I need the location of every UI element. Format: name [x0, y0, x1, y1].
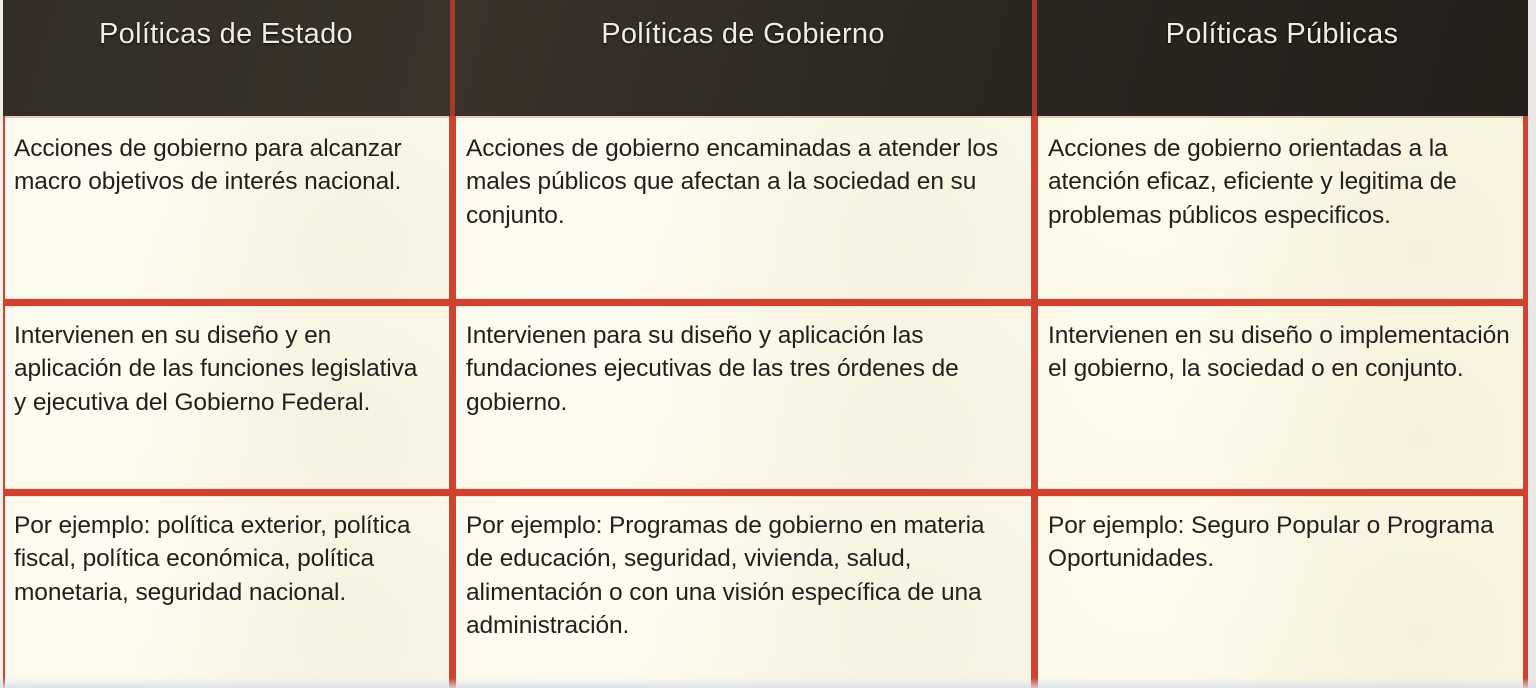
cell-text: Acciones de gobierno encaminadas a atend… — [466, 132, 1018, 232]
table-cell: Acciones de gobierno orientadas a la ate… — [1034, 116, 1530, 303]
cell-text: Intervienen en su diseño o implementació… — [1048, 319, 1514, 386]
table-cell: Intervienen en su diseño y en aplicación… — [0, 303, 452, 493]
table-cell: Por ejemplo: Programas de gobierno en ma… — [452, 493, 1034, 688]
column-header-politicas-de-gobierno: Políticas de Gobierno — [452, 0, 1034, 116]
column-header-label: Políticas de Estado — [99, 18, 353, 51]
column-header-politicas-publicas: Políticas Públicas — [1034, 0, 1530, 116]
table-body: Acciones de gobierno para alcanzar macro… — [0, 116, 1530, 688]
page-margin-left — [0, 0, 3, 688]
table-cell: Intervienen para su diseño y aplicación … — [452, 303, 1034, 493]
column-header-politicas-de-estado: Políticas de Estado — [0, 0, 452, 116]
page-canvas: Políticas de Estado Políticas de Gobiern… — [0, 0, 1536, 688]
table-cell: Por ejemplo: política exterior, política… — [0, 493, 452, 688]
cell-text: Acciones de gobierno para alcanzar macro… — [14, 132, 436, 199]
table-header-row: Políticas de Estado Políticas de Gobiern… — [0, 0, 1530, 116]
cell-text: Acciones de gobierno orientadas a la ate… — [1048, 132, 1514, 232]
column-header-label: Políticas de Gobierno — [601, 18, 885, 51]
cell-text: Intervienen para su diseño y aplicación … — [466, 319, 1018, 419]
policy-comparison-table: Políticas de Estado Políticas de Gobiern… — [0, 0, 1530, 688]
table-cell: Intervienen en su diseño o implementació… — [1034, 303, 1530, 493]
cell-text: Intervienen en su diseño y en aplicación… — [14, 319, 436, 419]
cell-text: Por ejemplo: Programas de gobierno en ma… — [466, 509, 1018, 642]
table-cell: Por ejemplo: Seguro Popular o Programa O… — [1034, 493, 1530, 688]
table-row: Por ejemplo: política exterior, política… — [0, 493, 1530, 688]
column-header-label: Políticas Públicas — [1166, 18, 1399, 51]
cell-text: Por ejemplo: Seguro Popular o Programa O… — [1048, 509, 1514, 576]
page-margin-right — [1528, 0, 1536, 688]
table-cell: Acciones de gobierno encaminadas a atend… — [452, 116, 1034, 303]
table-row: Acciones de gobierno para alcanzar macro… — [0, 116, 1530, 303]
table-row: Intervienen en su diseño y en aplicación… — [0, 303, 1530, 493]
table-cell: Acciones de gobierno para alcanzar macro… — [0, 116, 452, 303]
cell-text: Por ejemplo: política exterior, política… — [14, 509, 436, 609]
